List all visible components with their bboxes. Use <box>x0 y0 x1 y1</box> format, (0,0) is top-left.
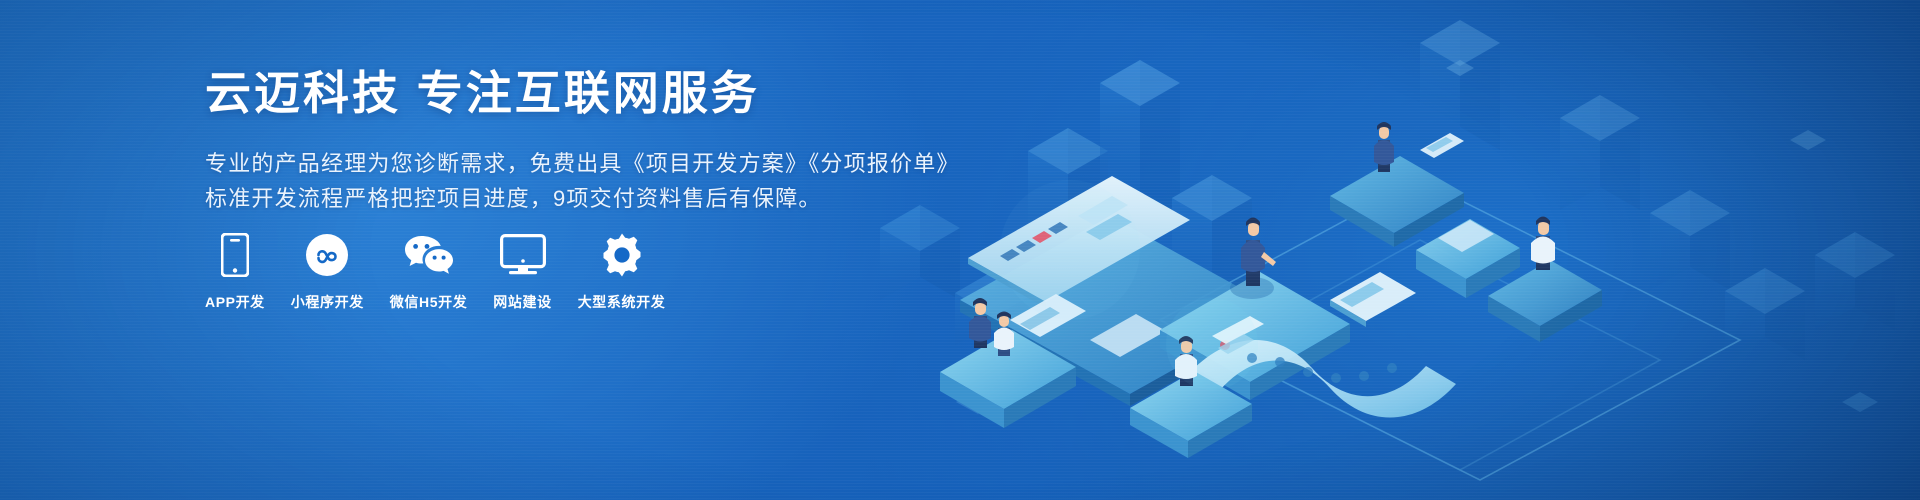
service-list: APP开发 小程序开发 微信 <box>205 232 665 312</box>
service-item-miniprogram[interactable]: 小程序开发 <box>291 232 364 312</box>
floating-window <box>1330 272 1416 327</box>
service-item-website[interactable]: 网站建设 <box>493 232 551 312</box>
floating-diamonds <box>956 60 1878 422</box>
service-label: 网站建设 <box>493 292 551 312</box>
figure-right-steps <box>1531 217 1555 271</box>
page-title: 云迈科技 专注互联网服务 <box>205 68 925 120</box>
figure-pair-lower-left <box>969 298 1014 356</box>
subtitle-line-1: 专业的产品经理为您诊断需求，免费出具《项目开发方案》《分项报价单》 <box>205 146 925 182</box>
dashboard-screen <box>968 176 1190 308</box>
lower-right-platform <box>1130 371 1252 458</box>
service-label: 大型系统开发 <box>578 292 666 312</box>
lower-left-platform <box>940 330 1076 428</box>
hero-subtitle: 专业的产品经理为您诊断需求，免费出具《项目开发方案》《分项报价单》 标准开发流程… <box>205 146 925 217</box>
service-item-app[interactable]: APP开发 <box>205 232 265 312</box>
service-item-large-system[interactable]: 大型系统开发 <box>578 232 666 312</box>
figure-lower-right <box>1175 336 1197 386</box>
mini-program-icon <box>299 232 355 278</box>
wechat-icon <box>401 232 457 278</box>
main-platform <box>960 216 1280 406</box>
platform-cards <box>1010 294 1166 357</box>
service-label: 小程序开发 <box>291 292 364 312</box>
glow-accents <box>1000 180 1258 390</box>
upper-right-pedestal <box>1330 156 1464 247</box>
subtitle-line-2: 标准开发流程严格把控项目进度，9项交付资料售后有保障。 <box>205 181 925 217</box>
right-steps <box>1488 260 1602 342</box>
ground-outline <box>1160 180 1740 480</box>
hero-copy: 云迈科技 专注互联网服务 专业的产品经理为您诊断需求，免费出具《项目开发方案》《… <box>205 68 925 217</box>
service-label: APP开发 <box>205 292 265 312</box>
isometric-illustration <box>860 0 1920 500</box>
cube-stack-right <box>1416 219 1520 298</box>
small-tablet-upper-right <box>1420 133 1464 158</box>
service-item-wechat-h5[interactable]: 微信H5开发 <box>390 232 468 312</box>
service-label: 微信H5开发 <box>390 292 468 312</box>
data-ribbon <box>1190 316 1456 418</box>
monitor-icon <box>495 232 551 278</box>
figure-seated-upper-right <box>1374 122 1394 172</box>
gear-icon <box>594 232 650 278</box>
figure-standing-center <box>1230 218 1276 300</box>
background-towers <box>880 20 1895 360</box>
mobile-phone-icon <box>207 232 263 278</box>
hero-banner: 云迈科技 专注互联网服务 专业的产品经理为您诊断需求，免费出具《项目开发方案》《… <box>0 0 1920 500</box>
center-podium <box>1160 272 1350 400</box>
